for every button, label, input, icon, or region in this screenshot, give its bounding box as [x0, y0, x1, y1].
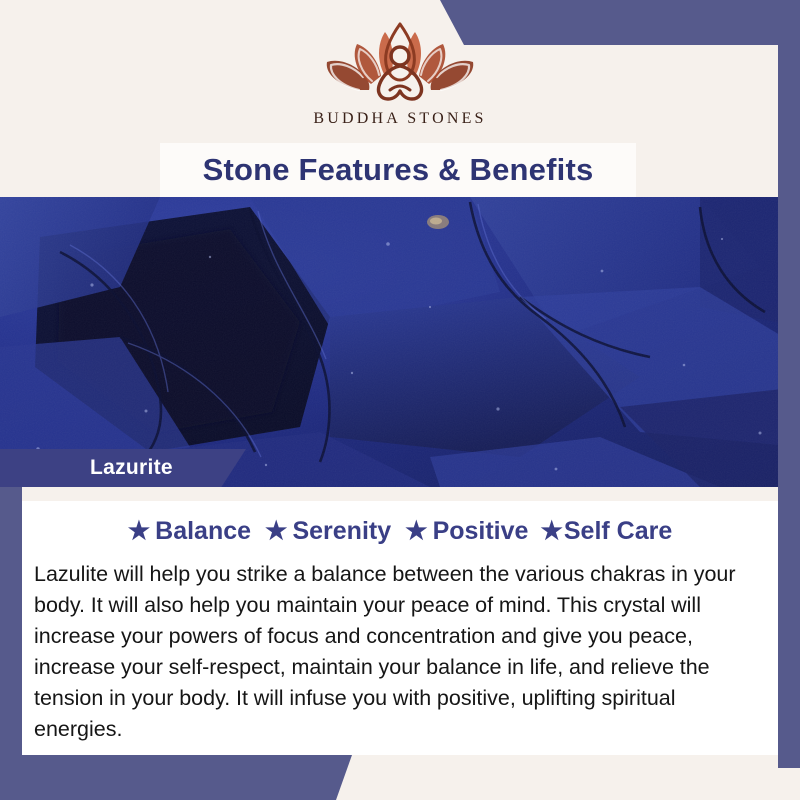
lotus-meditation-icon [315, 18, 485, 106]
benefits-row: ★ Balance ★ Serenity ★ Positive ★ Self C… [22, 517, 778, 546]
brand-logo: BUDDHA STONES [0, 18, 800, 128]
benefit-label: Self Care [564, 517, 672, 546]
star-icon: ★ [540, 519, 562, 544]
page-title-panel: Stone Features & Benefits [160, 143, 636, 197]
benefit-balance: ★ Balance [128, 517, 251, 546]
content-top-strip [22, 487, 778, 501]
stone-photo [0, 197, 800, 487]
brand-name: BUDDHA STONES [313, 110, 486, 128]
benefit-self-care: ★ Self Care [540, 517, 672, 546]
poster: BUDDHA STONES Stone Features & Benefits [0, 0, 800, 800]
description-text: Lazulite will help you strike a balance … [34, 559, 756, 745]
frame-bottom-band [0, 755, 800, 800]
content-card: ★ Balance ★ Serenity ★ Positive ★ Self C… [22, 487, 778, 755]
benefit-label: Positive [433, 517, 529, 546]
benefit-label: Balance [155, 517, 251, 546]
frame-right-bar [778, 45, 800, 768]
lazurite-stone-image [0, 197, 800, 487]
star-icon: ★ [128, 519, 150, 544]
page-title: Stone Features & Benefits [203, 152, 594, 188]
star-icon: ★ [265, 519, 287, 544]
benefit-label: Serenity [292, 517, 391, 546]
frame-left-bar [0, 475, 22, 755]
benefit-serenity: ★ Serenity [265, 517, 391, 546]
benefit-positive: ★ Positive [405, 517, 528, 546]
stone-name: Lazurite [90, 456, 173, 480]
stone-name-tag: Lazurite [0, 449, 246, 487]
star-icon: ★ [405, 519, 427, 544]
